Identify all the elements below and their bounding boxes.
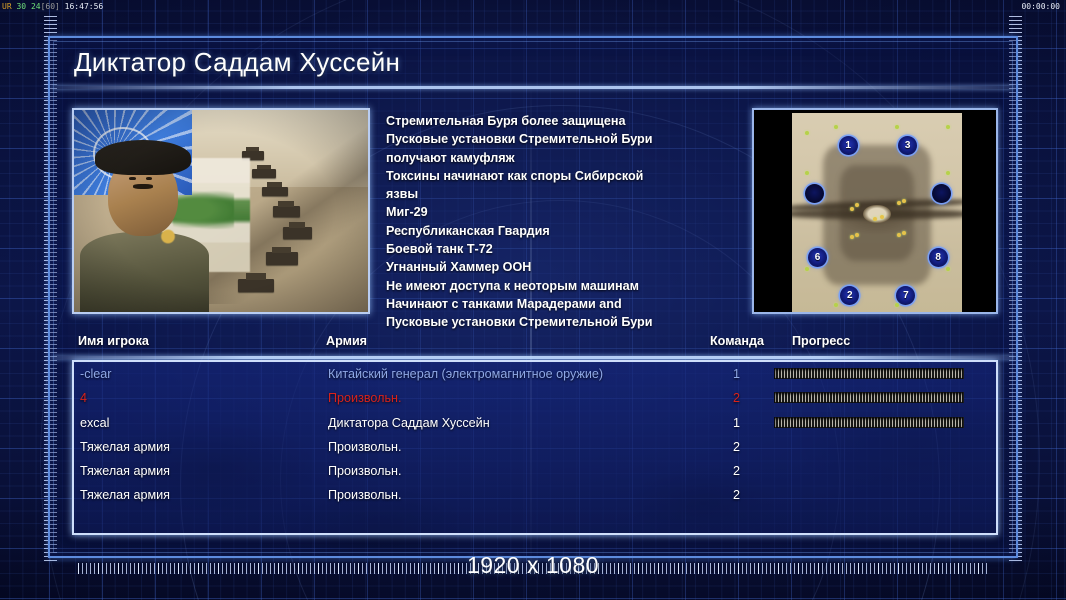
faction-description-list: Стремительная Буря более защищена Пусков…: [370, 108, 752, 316]
minimap-resource-node: [834, 303, 838, 307]
player-name[interactable]: Тяжелая армия: [80, 483, 170, 507]
minimap-terrain: 136827: [792, 113, 962, 313]
minimap-resource-node: [855, 203, 859, 207]
description-line: Республиканская Гвардия: [386, 222, 752, 240]
player-progress-bar: [774, 392, 964, 403]
player-team[interactable]: 2: [664, 435, 740, 459]
minimap-resource-node: [946, 267, 950, 271]
description-line: Токсины начинают как споры Сибирской: [386, 167, 752, 185]
player-name[interactable]: excal: [80, 411, 109, 435]
description-line: Угнанный Хаммер ООН: [386, 258, 752, 276]
player-army[interactable]: Произвольн.: [328, 386, 402, 410]
page-title: Диктатор Саддам Хуссейн: [74, 47, 400, 78]
title-divider: [52, 86, 1014, 89]
player-name[interactable]: -clear: [80, 362, 112, 386]
column-header-army: Армия: [326, 334, 367, 348]
description-line: Боевой танк Т-72: [386, 240, 752, 258]
player-name[interactable]: 4: [80, 386, 87, 410]
minimap-start-position-2[interactable]: 2: [840, 286, 859, 305]
faction-portrait: [72, 108, 370, 314]
player-army[interactable]: Китайский генерал (электромагнитное оруж…: [328, 362, 603, 386]
player-army[interactable]: Произвольн.: [328, 483, 402, 507]
minimap-resource-node: [805, 267, 809, 271]
minimap-resource-node: [946, 125, 950, 129]
player-progress-bar: [774, 368, 964, 379]
status-clock: 16:47:56: [65, 2, 104, 11]
game-lobby-screen: UR 30 24[60] 16:47:56 00:00:00 Диктатор …: [0, 0, 1066, 600]
description-line: язвы: [386, 185, 752, 203]
player-army[interactable]: Произвольн.: [328, 459, 402, 483]
table-row[interactable]: excalДиктатора Саддам Хуссейн1: [74, 411, 996, 435]
minimap-start-position-6[interactable]: 6: [808, 248, 827, 267]
minimap-resource-node: [805, 171, 809, 175]
minimap-start-position-7[interactable]: 7: [896, 286, 915, 305]
player-army[interactable]: Диктатора Саддам Хуссейн: [328, 411, 490, 435]
column-header-name: Имя игрока: [78, 334, 149, 348]
minimap[interactable]: 136827: [752, 108, 998, 314]
minimap-resource-node: [946, 171, 950, 175]
player-army[interactable]: Произвольн.: [328, 435, 402, 459]
status-bracket: [60]: [41, 2, 60, 11]
description-line: Миг-29: [386, 203, 752, 221]
minimap-resource-node: [895, 125, 899, 129]
title-bar: Диктатор Саддам Хуссейн: [50, 38, 1016, 88]
player-team[interactable]: 2: [664, 483, 740, 507]
minimap-center-feature: [863, 205, 890, 223]
table-row[interactable]: 4Произвольн.2: [74, 386, 996, 410]
match-timer: 00:00:00: [1021, 0, 1060, 13]
table-row[interactable]: -clearКитайский генерал (электромагнитно…: [74, 362, 996, 386]
table-row[interactable]: Тяжелая армияПроизвольн.2: [74, 483, 996, 507]
player-table-header: Имя игрока Армия Команда Прогресс: [74, 334, 996, 356]
player-team[interactable]: 2: [664, 459, 740, 483]
description-line: Начинают с танками Марадерами and: [386, 295, 752, 313]
status-prefix: UR: [2, 2, 12, 11]
player-name[interactable]: Тяжелая армия: [80, 435, 170, 459]
faction-info-row: Стремительная Буря более защищена Пусков…: [72, 108, 998, 316]
table-row[interactable]: Тяжелая армияПроизвольн.2: [74, 435, 996, 459]
minimap-resource-node: [850, 235, 854, 239]
column-header-progress: Прогресс: [792, 334, 850, 348]
minimap-start-position-8[interactable]: 8: [929, 248, 948, 267]
description-line: Стремительная Буря более защищена: [386, 112, 752, 130]
player-progress-bar: [774, 417, 964, 428]
minimap-resource-node: [850, 207, 854, 211]
description-line: Пусковые установки Стремительной Бури: [386, 130, 752, 148]
player-team[interactable]: 1: [664, 411, 740, 435]
top-status-bar: UR 30 24[60] 16:47:56 00:00:00: [0, 0, 1066, 13]
minimap-start-position-1[interactable]: 1: [839, 136, 858, 155]
player-name[interactable]: Тяжелая армия: [80, 459, 170, 483]
fps-status-text: UR 30 24[60] 16:47:56: [2, 0, 103, 13]
player-team[interactable]: 1: [664, 362, 740, 386]
minimap-resource-node: [805, 131, 809, 135]
portrait-vignette: [74, 110, 368, 312]
minimap-resource-node: [895, 303, 899, 307]
minimap-start-position-empty-2[interactable]: [805, 184, 824, 203]
minimap-resource-node: [855, 233, 859, 237]
portrait-artwork: [74, 110, 368, 312]
player-team[interactable]: 2: [664, 386, 740, 410]
table-header-divider: [52, 356, 1014, 359]
main-panel: Диктатор Саддам Хуссейн: [48, 36, 1018, 558]
table-row[interactable]: Тяжелая армияПроизвольн.2: [74, 459, 996, 483]
minimap-resource-node: [834, 125, 838, 129]
description-line: Не имеют доступа к неоторым машинам: [386, 277, 752, 295]
status-num1: 30: [16, 2, 26, 11]
column-header-team: Команда: [710, 334, 764, 348]
player-table: -clearКитайский генерал (электромагнитно…: [72, 360, 998, 535]
description-line: Пусковые установки Стремительной Бури: [386, 313, 752, 331]
status-num2: 24: [31, 2, 41, 11]
minimap-start-position-empty-3[interactable]: [932, 184, 951, 203]
resolution-caption: 1920 x 1080: [0, 552, 1066, 579]
minimap-start-position-3[interactable]: 3: [898, 136, 917, 155]
player-table-body: -clearКитайский генерал (электромагнитно…: [74, 362, 996, 508]
description-line: получают камуфляж: [386, 149, 752, 167]
